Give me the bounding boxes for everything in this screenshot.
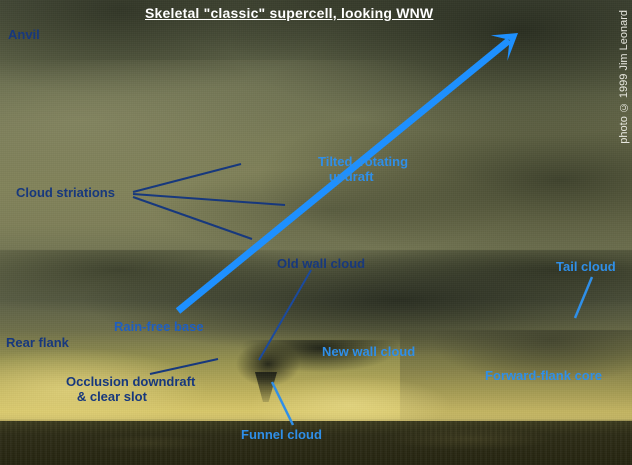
leader-striation-line-middle <box>133 194 285 205</box>
label-occlusion-downdraft: Occlusion downdraft & clear slot <box>66 375 195 404</box>
label-tilted-updraft: Tilted, rotating updraft <box>318 155 408 184</box>
label-rain-free-base: Rain-free base <box>114 320 204 335</box>
leader-tail-cloud-line <box>575 277 592 318</box>
leader-occlusion-line <box>150 359 218 374</box>
label-cloud-striations: Cloud striations <box>16 186 115 201</box>
photo-credit: photo © 1999 Jim Leonard <box>618 10 630 144</box>
label-anvil: Anvil <box>8 28 40 43</box>
label-tail-cloud: Tail cloud <box>556 260 616 275</box>
leader-striation-line-lower <box>133 197 252 239</box>
label-funnel-cloud: Funnel cloud <box>241 428 322 443</box>
label-old-wall-cloud: Old wall cloud <box>277 257 365 272</box>
label-forward-flank-core: Forward-flank core <box>485 369 602 384</box>
label-new-wall-cloud: New wall cloud <box>322 345 415 360</box>
supercell-annotated-photo: AnvilCloud striationsTilted, rotating up… <box>0 0 632 465</box>
leader-old-wall-cloud-line <box>259 270 311 360</box>
leader-funnel-cloud-line <box>272 382 293 425</box>
page-title: Skeletal "classic" supercell, looking WN… <box>145 5 433 21</box>
label-rear-flank: Rear flank <box>6 336 69 351</box>
leader-striation-line-upper <box>133 164 241 192</box>
